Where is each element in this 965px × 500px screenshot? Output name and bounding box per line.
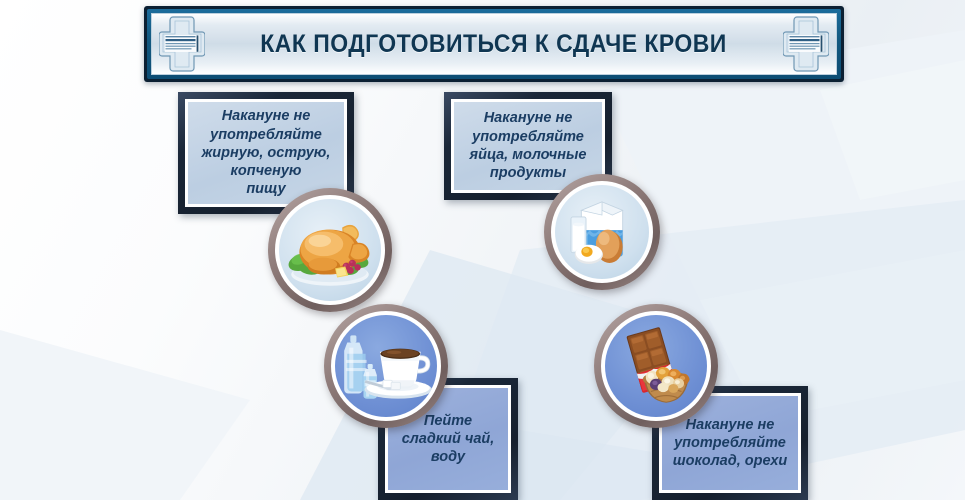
badge-chocolate-and-nuts bbox=[594, 304, 718, 428]
badge-ring bbox=[601, 311, 711, 421]
title-banner-frame: КАК ПОДГОТОВИТЬСЯ К СДАЧЕ КРОВИ bbox=[147, 9, 841, 79]
roast-chicken-icon bbox=[279, 199, 381, 301]
tea-and-water-icon bbox=[335, 315, 437, 417]
title-banner-inner: КАК ПОДГОТОВИТЬСЯ К СДАЧЕ КРОВИ bbox=[151, 13, 837, 75]
slide-canvas: КАК ПОДГОТОВИТЬСЯ К СДАЧЕ КРОВИ bbox=[0, 0, 965, 500]
milk-and-eggs-icon bbox=[555, 185, 649, 279]
badge-ring bbox=[275, 195, 385, 305]
advice-card-text: Накануне не употребляйте жирную, острую,… bbox=[202, 107, 331, 198]
badge-ring bbox=[331, 311, 441, 421]
page-title: КАК ПОДГОТОВИТЬСЯ К СДАЧЕ КРОВИ bbox=[261, 30, 727, 59]
badge-milk-and-eggs bbox=[544, 174, 660, 290]
title-banner: КАК ПОДГОТОВИТЬСЯ К СДАЧЕ КРОВИ bbox=[144, 6, 844, 82]
medical-cross-logo-icon bbox=[783, 15, 829, 73]
badge-ring bbox=[551, 181, 653, 283]
advice-card-text: Накануне не употребляйте яйца, молочные … bbox=[470, 109, 587, 182]
chocolate-and-nuts-icon bbox=[605, 315, 707, 417]
badge-tea-and-water bbox=[324, 304, 448, 428]
advice-card-text: Накануне не употребляйте шоколад, орехи bbox=[673, 416, 788, 471]
medical-cross-logo-icon bbox=[159, 15, 205, 73]
badge-roast-chicken bbox=[268, 188, 392, 312]
